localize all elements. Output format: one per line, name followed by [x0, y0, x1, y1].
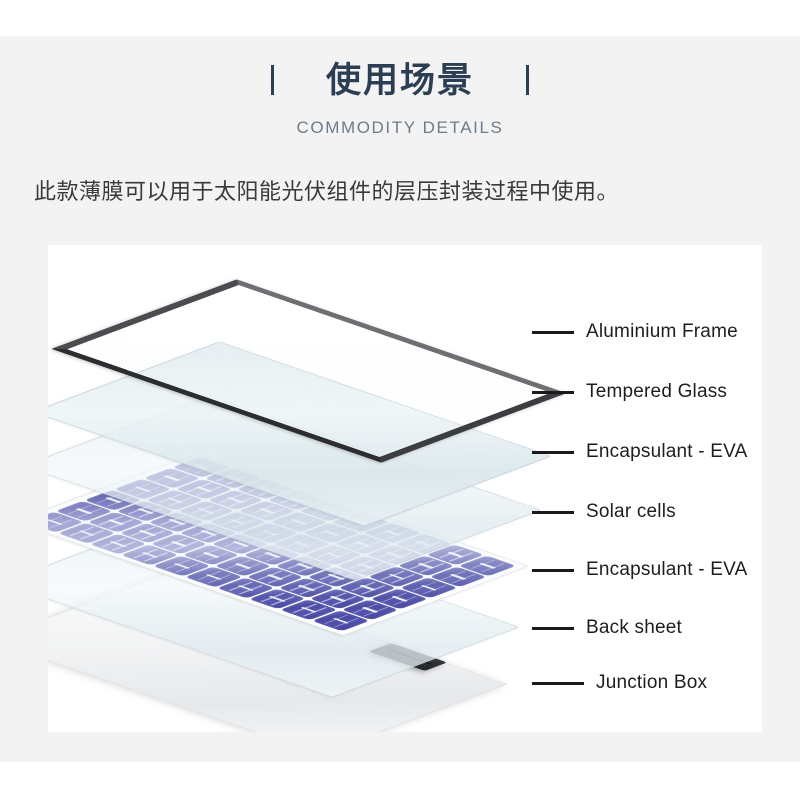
callout-label: Back sheet: [586, 617, 682, 639]
page-title: 使用场景: [326, 63, 474, 98]
callout-back-sheet: Back sheet: [532, 617, 682, 639]
leader-line-icon: [532, 682, 584, 685]
callout-label: Encapsulant - EVA: [586, 559, 747, 581]
leader-line-icon: [532, 391, 574, 394]
callout-label: Aluminium Frame: [586, 321, 738, 343]
page-subtitle: COMMODITY DETAILS: [0, 118, 800, 138]
callout-label: Junction Box: [596, 672, 707, 694]
callout-solar-cells: Solar cells: [532, 501, 676, 523]
callout-label: Tempered Glass: [586, 381, 727, 403]
leader-line-icon: [532, 451, 574, 454]
leader-line-icon: [532, 627, 574, 630]
callout-label: Encapsulant - EVA: [586, 441, 747, 463]
page-root: 使用场景 COMMODITY DETAILS 此款薄膜可以用于太阳能光伏组件的层…: [0, 0, 800, 800]
callout-junction-box: Junction Box: [532, 672, 707, 694]
diagram-stage: [48, 245, 568, 732]
leader-line-icon: [532, 569, 574, 572]
callout-encapsulant-eva-bottom: Encapsulant - EVA: [532, 559, 747, 581]
vertical-bar-divider-left-icon: [271, 65, 274, 95]
callout-encapsulant-eva-top: Encapsulant - EVA: [532, 441, 747, 463]
leader-line-icon: [532, 331, 574, 334]
callout-aluminium-frame: Aluminium Frame: [532, 321, 738, 343]
callout-label-list: Aluminium Frame Tempered Glass Encapsula…: [532, 245, 762, 732]
callout-tempered-glass: Tempered Glass: [532, 381, 727, 403]
title-row: 使用场景: [0, 56, 800, 104]
leader-line-icon: [532, 511, 574, 514]
vertical-bar-divider-right-icon: [526, 65, 529, 95]
exploded-diagram-panel: Aluminium Frame Tempered Glass Encapsula…: [48, 245, 762, 732]
description-text: 此款薄膜可以用于太阳能光伏组件的层压封装过程中使用。: [34, 178, 764, 207]
section-header: 使用场景 COMMODITY DETAILS: [0, 56, 800, 146]
callout-label: Solar cells: [586, 501, 676, 523]
